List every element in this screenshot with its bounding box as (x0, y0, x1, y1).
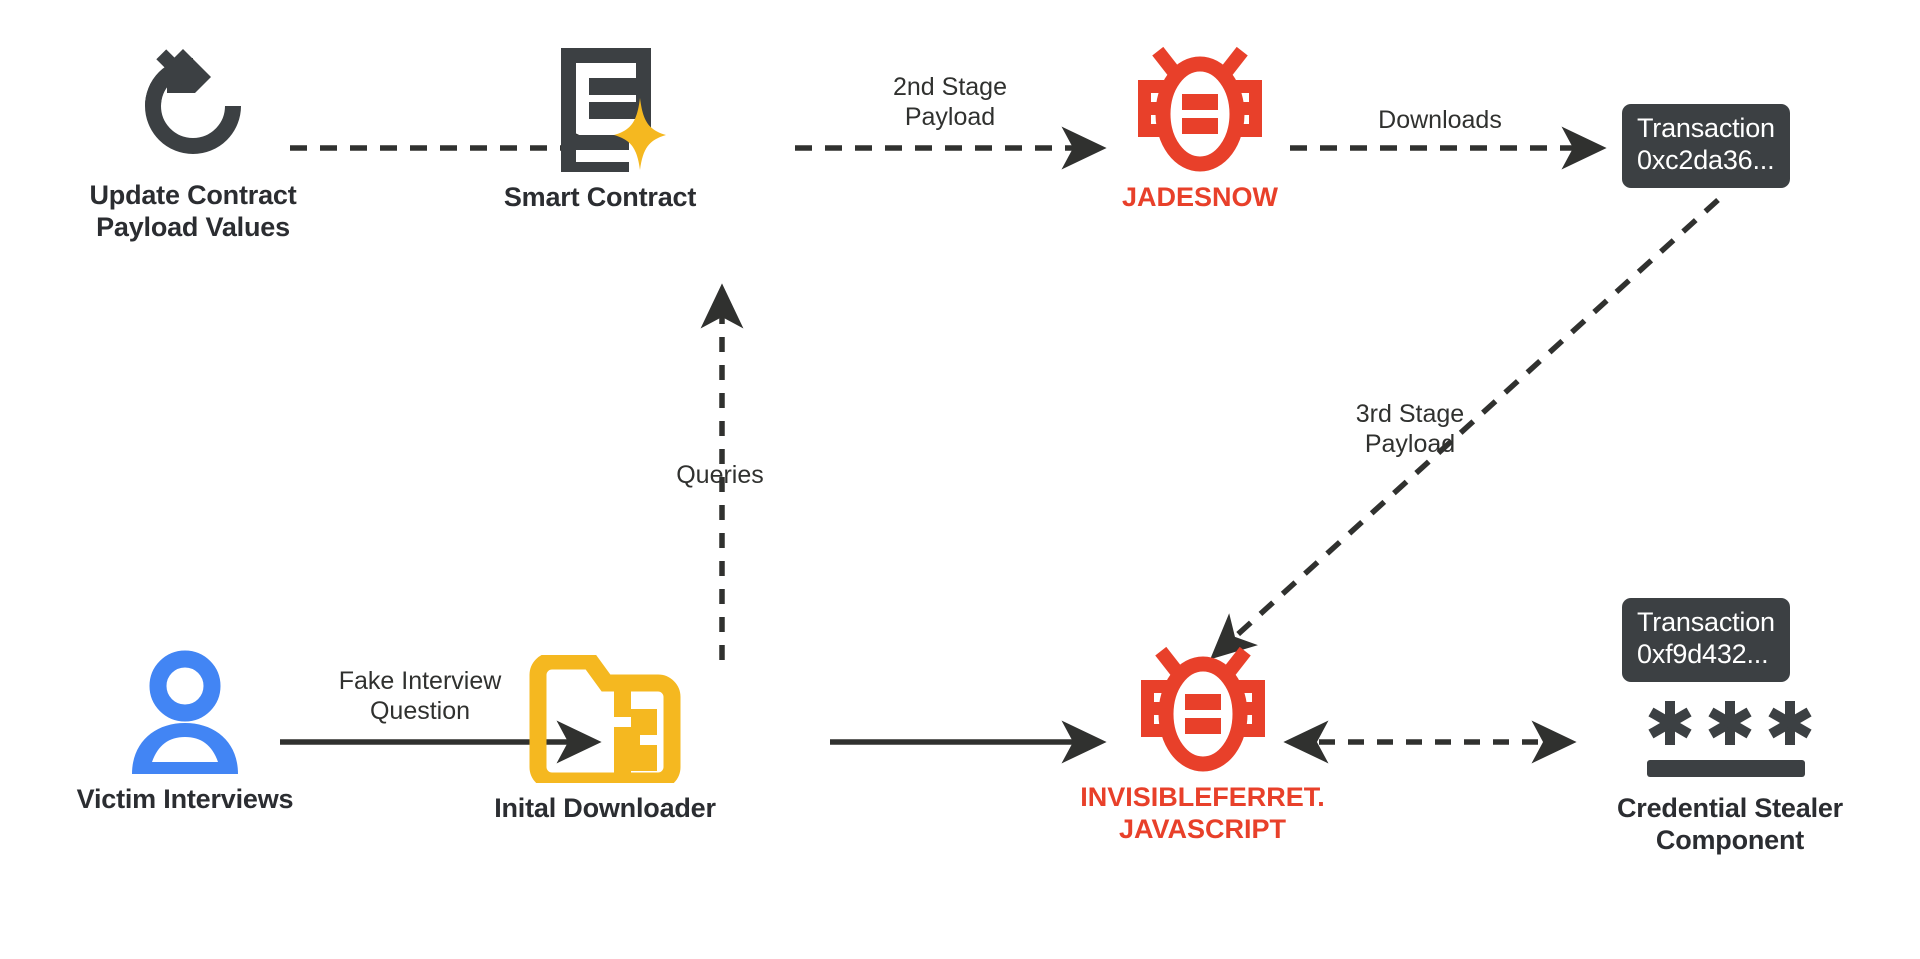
node-label-jadesnow: JADESNOW (1122, 182, 1278, 214)
bug-icon (1139, 642, 1267, 772)
person-icon (122, 650, 248, 774)
node-label-invisibleferret: INVISIBLEFERRET. JAVASCRIPT (1080, 782, 1325, 846)
diagram-canvas: Update Contract Payload Values Smart Con… (0, 0, 1920, 959)
bug-icon (1136, 42, 1264, 172)
node-label-credential-stealer: Credential Stealer Component (1617, 793, 1843, 857)
node-label-victim-interviews: Victim Interviews (77, 784, 294, 816)
node-jadesnow: JADESNOW (1090, 42, 1310, 214)
edge-label-fake-interview-question: Fake Interview Question (300, 666, 540, 726)
node-update-contract: Update Contract Payload Values (48, 46, 338, 244)
transaction-box-bottom[interactable]: Transaction 0xf9d432... (1622, 598, 1790, 682)
asterisk-icon (1647, 700, 1693, 746)
transaction-box-top[interactable]: Transaction 0xc2da36... (1622, 104, 1790, 188)
folder-code-icon (526, 655, 684, 783)
node-smart-contract: Smart Contract (470, 40, 730, 214)
asterisks-row (1647, 700, 1813, 746)
edge-label-third-stage-payload: 3rd Stage Payload (1310, 399, 1510, 459)
edge-label-queries: Queries (630, 460, 810, 490)
node-label-initial-downloader: Inital Downloader (494, 793, 716, 825)
node-victim-interviews: Victim Interviews (40, 650, 330, 816)
node-credential-stealer: Credential Stealer Component (1580, 700, 1880, 857)
password-underline-bar (1647, 760, 1805, 777)
edge-label-second-stage-payload: 2nd Stage Payload (860, 72, 1040, 132)
password-asterisks-icon (1647, 700, 1813, 777)
asterisk-icon (1767, 700, 1813, 746)
node-label-update-contract: Update Contract Payload Values (89, 180, 296, 244)
asterisk-icon (1707, 700, 1753, 746)
edge-label-downloads: Downloads (1350, 105, 1530, 135)
refresh-cycle-icon (133, 46, 253, 170)
node-label-smart-contract: Smart Contract (504, 182, 696, 214)
node-invisibleferret: INVISIBLEFERRET. JAVASCRIPT (1085, 642, 1320, 846)
contract-document-sparkle-icon (533, 40, 668, 172)
